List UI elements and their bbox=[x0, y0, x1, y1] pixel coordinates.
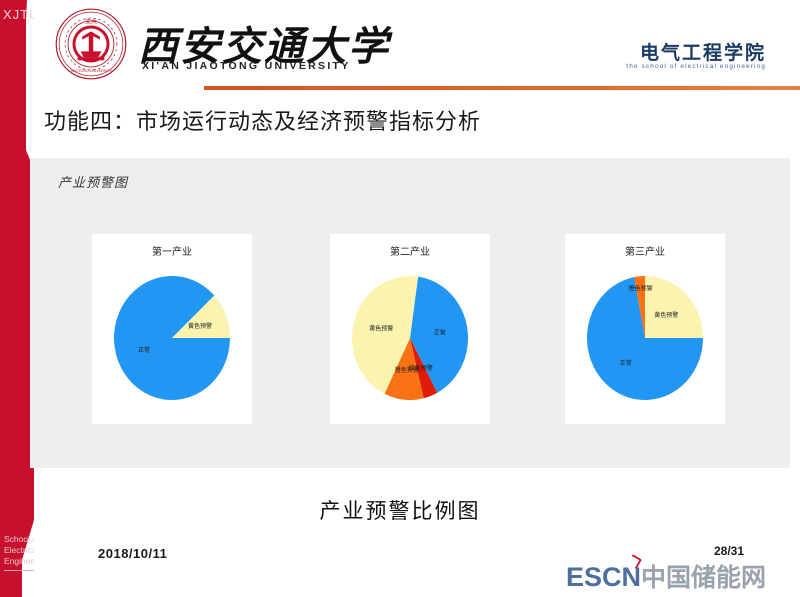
slide-title-band: 功能四：市场运行动态及经济预警指标分析 bbox=[34, 92, 800, 152]
pie-slice-label: 正常 bbox=[138, 346, 150, 354]
pie-chart-title: 第一产业 bbox=[92, 243, 252, 258]
slide-header: 交大 JIAOTONG UNIVERSITY 西安交通大学 XI'AN JIAO… bbox=[34, 0, 800, 88]
pie-chart-title: 第二产业 bbox=[330, 243, 490, 258]
pie-chart-group: 第一产业 正常黄色预警 第二产业 正常红色预警橙色预警黄色预警 bbox=[30, 158, 790, 468]
pie-slice-label: 正常 bbox=[434, 328, 446, 336]
watermark-escn-text: ESCN bbox=[566, 562, 641, 592]
university-name-en: XI'AN JIAOTONG UNIVERSITY bbox=[142, 60, 351, 72]
xjtu-wordmark: XJTU bbox=[3, 7, 34, 22]
pie-slices-2 bbox=[587, 276, 703, 400]
header-orange-divider bbox=[204, 86, 800, 90]
pie-slices-0 bbox=[114, 276, 230, 400]
page-title: 功能四：市场运行动态及经济预警指标分析 bbox=[44, 104, 481, 136]
slide-root: XJTU School ofElectricalEngineering bbox=[0, 0, 800, 597]
pie-slice-label: 黄色预警 bbox=[369, 325, 393, 333]
pie-chart-card: 第二产业 正常红色预警橙色预警黄色预警 bbox=[330, 234, 490, 424]
pie-chart-card: 第三产业 正常橙色预警黄色预警 bbox=[565, 234, 725, 424]
pie-slices-1 bbox=[352, 276, 468, 400]
pie-slice bbox=[645, 276, 703, 338]
pie-svg-2: 正常橙色预警黄色预警 bbox=[570, 260, 720, 418]
pie-svg-1: 正常红色预警橙色预警黄色预警 bbox=[335, 260, 485, 418]
escn-watermark: ESCN中国储能网 bbox=[566, 558, 766, 594]
pie-slice-label: 正常 bbox=[620, 359, 632, 367]
pie-svg-0: 正常黄色预警 bbox=[97, 260, 247, 418]
xjtu-seal-icon: 交大 JIAOTONG UNIVERSITY bbox=[54, 7, 128, 81]
pie-slice-label: 黄色预警 bbox=[654, 311, 678, 319]
watermark-cn-text: 中国储能网 bbox=[641, 563, 766, 592]
pie-slice-label: 橙色预警 bbox=[395, 366, 419, 374]
school-of-electrical-engineering-label: School ofElectricalEngineering bbox=[4, 534, 34, 567]
pie-chart-canvas: 正常红色预警橙色预警黄色预警 bbox=[330, 260, 490, 420]
pie-chart-canvas: 正常黄色预警 bbox=[92, 260, 252, 420]
content-panel: 产业预警图 第一产业 正常黄色预警 第二产业 正常红色预警橙色 bbox=[30, 158, 790, 468]
department-name-cn: 电气工程学院 bbox=[640, 38, 766, 65]
footer-date: 2018/10/11 bbox=[98, 546, 167, 561]
department-name-en: the school of electrical engineering bbox=[626, 63, 766, 70]
pie-chart-card: 第一产业 正常黄色预警 bbox=[92, 234, 252, 424]
pie-slice bbox=[114, 276, 230, 400]
pie-slice-label: 橙色预警 bbox=[629, 285, 653, 293]
figure-caption: 产业预警比例图 bbox=[0, 495, 800, 525]
pie-chart-canvas: 正常橙色预警黄色预警 bbox=[565, 260, 725, 420]
svg-text:JIAOTONG UNIVERSITY: JIAOTONG UNIVERSITY bbox=[70, 69, 112, 73]
sidebar-divider bbox=[4, 570, 34, 571]
pie-chart-title: 第三产业 bbox=[565, 243, 725, 258]
pie-slice-label: 黄色预警 bbox=[188, 322, 212, 330]
footer-page-number: 28/31 bbox=[714, 544, 744, 558]
